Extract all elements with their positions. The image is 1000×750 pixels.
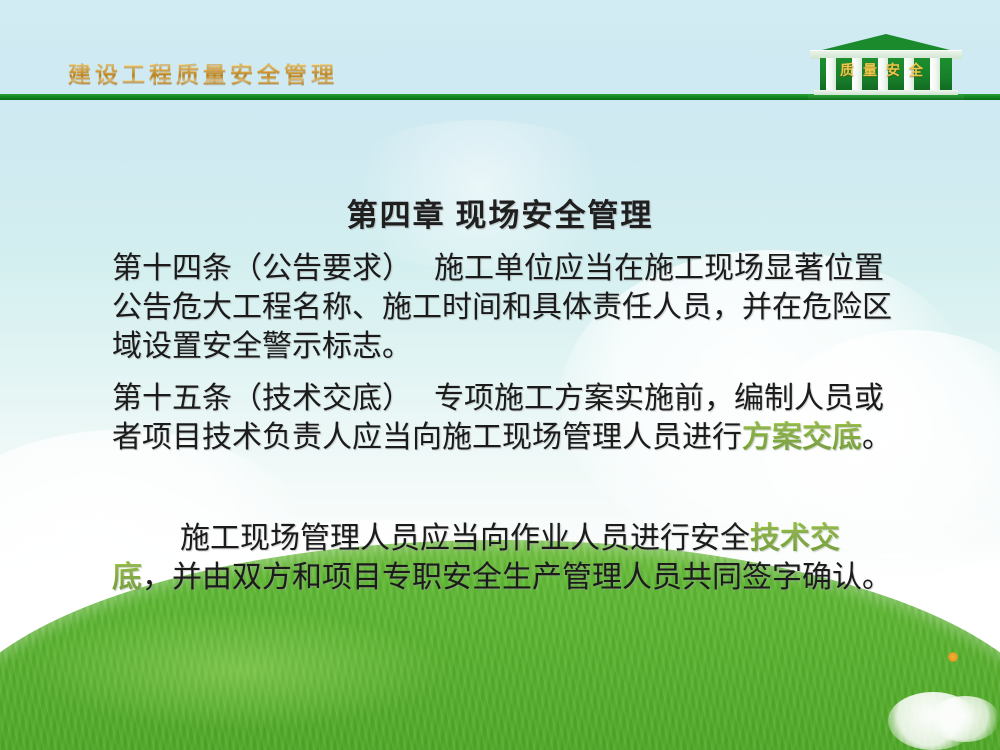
paragraph-article-14: 第十四条（公告要求）施工单位应当在施工现场显著位置公告危大工程名称、施工时间和具… <box>112 249 898 366</box>
paragraph-text: 第十四条（公告要求） <box>112 252 412 285</box>
paragraph-article-15: 第十五条（技术交底）专项施工方案实施前，编制人员或者项目技术负责人应当向施工现场… <box>112 379 898 457</box>
highlighted-term: 方案交底 <box>742 421 862 454</box>
presentation-slide: 建设工程质量安全管理 质量安全 第四章 现场安全管理 第十四条（公告要求）施工单… <box>0 0 1000 750</box>
slide-body: 第四章 现场安全管理 第十四条（公告要求）施工单位应当在施工现场显著位置公告危大… <box>0 0 1000 750</box>
paragraph-text: 第十五条（技术交底） <box>112 382 412 415</box>
paragraph-text: 施工现场管理人员应当向作业人员进行安全 <box>180 522 750 555</box>
paragraph-article-15-second: 施工现场管理人员应当向作业人员进行安全技术交底，并由双方和项目专职安全生产管理人… <box>112 519 898 597</box>
paragraph-text: ，并由双方和项目专职安全生产管理人员共同签字确认。 <box>142 561 892 594</box>
slide-title: 第四章 现场安全管理 <box>0 190 1000 235</box>
paragraph-text: 。 <box>862 421 892 454</box>
